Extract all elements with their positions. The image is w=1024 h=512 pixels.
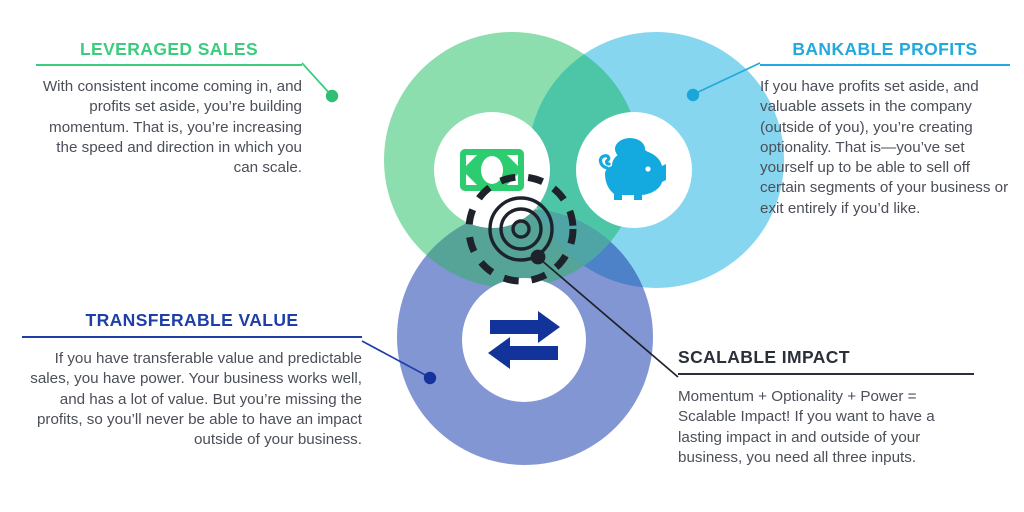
leader-line-leveraged: [302, 63, 338, 102]
callout-rule-scalable-impact: [678, 373, 974, 375]
callout-body-bankable-profits: If you have profits set aside, and valua…: [760, 77, 1010, 219]
callout-title-scalable-impact: SCALABLE IMPACT: [678, 348, 974, 367]
callout-rule-transferable-value: [22, 336, 362, 338]
callout-rule-leveraged-sales: [36, 64, 302, 66]
callout-scalable-impact[interactable]: SCALABLE IMPACT Momentum + Optionality +…: [678, 348, 974, 468]
callout-title-transferable-value: TRANSFERABLE VALUE: [22, 311, 362, 330]
callout-leveraged-sales[interactable]: LEVERAGED SALES With consistent income c…: [36, 40, 302, 178]
banknote-icon: [460, 149, 524, 191]
callout-title-bankable-profits: BANKABLE PROFITS: [760, 40, 1010, 59]
callout-transferable-value[interactable]: TRANSFERABLE VALUE If you have transfera…: [22, 311, 362, 450]
infographic-canvas: LEVERAGED SALES With consistent income c…: [0, 0, 1024, 512]
inner-disc-transferable: [462, 278, 586, 402]
callout-body-transferable-value: If you have transferable value and predi…: [22, 349, 362, 450]
callout-bankable-profits[interactable]: BANKABLE PROFITS If you have profits set…: [760, 40, 1010, 219]
callout-title-leveraged-sales: LEVERAGED SALES: [36, 40, 302, 59]
callout-rule-bankable-profits: [760, 64, 1010, 66]
callout-body-leveraged-sales: With consistent income coming in, and pr…: [36, 77, 302, 178]
callout-body-scalable-impact: Momentum + Optionality + Power = Scalabl…: [678, 387, 974, 468]
